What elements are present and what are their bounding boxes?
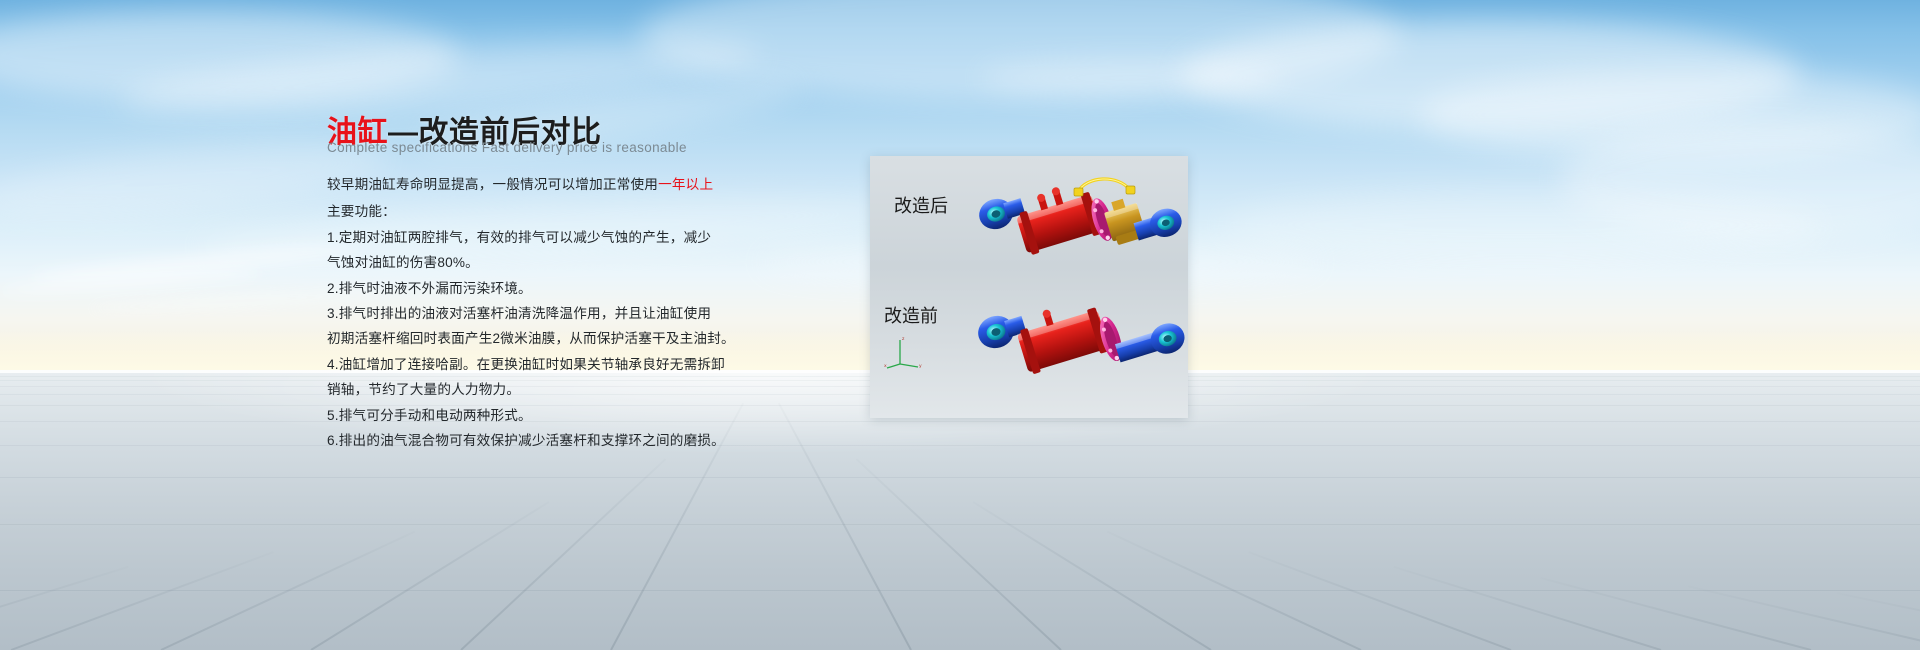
cylinder-assembly-before [966, 288, 1188, 406]
label-after-modification: 改造后 [894, 192, 948, 218]
cad-comparison-panel: 改造后 改造前 z x y [870, 156, 1188, 418]
page-subtitle: Complete specifications Fast delivery pr… [327, 140, 687, 155]
feature-line-highlight: 一年以上 [658, 177, 713, 192]
content-layer: 油缸—改造前后对比 Complete specifications Fast d… [0, 0, 1920, 650]
feature-line: 较早期油缸寿命明显提高，一般情况可以增加正常使用一年以上 [327, 172, 767, 197]
banner-root: 油缸—改造前后对比 Complete specifications Fast d… [0, 0, 1920, 650]
svg-text:z: z [902, 337, 905, 342]
feature-line-text: 销轴，节约了大量的人力物力。 [327, 382, 520, 397]
feature-line-text: 3.排气时排出的油液对活塞杆油清洗降温作用，并且让油缸使用 [327, 306, 711, 321]
label-before-modification: 改造前 [884, 302, 938, 328]
feature-line: 销轴，节约了大量的人力物力。 [327, 377, 767, 402]
feature-line: 1.定期对油缸两腔排气，有效的排气可以减少气蚀的产生，减少 [327, 225, 767, 250]
feature-line-text: 较早期油缸寿命明显提高，一般情况可以增加正常使用 [327, 177, 658, 192]
feature-line: 初期活塞杆缩回时表面产生2微米油膜，从而保护活塞干及主油封。 [327, 326, 767, 351]
feature-line-text: 6.排出的油气混合物可有效保护减少活塞杆和支撑环之间的磨损。 [327, 433, 725, 448]
feature-line: 3.排气时排出的油液对活塞杆油清洗降温作用，并且让油缸使用 [327, 301, 767, 326]
feature-line-text: 主要功能： [327, 204, 396, 219]
svg-text:y: y [919, 364, 922, 369]
feature-line-text: 1.定期对油缸两腔排气，有效的排气可以减少气蚀的产生，减少 [327, 230, 711, 245]
svg-text:x: x [884, 364, 887, 369]
feature-line-text: 初期活塞杆缩回时表面产生2微米油膜，从而保护活塞干及主油封。 [327, 331, 735, 346]
feature-line: 主要功能： [327, 199, 767, 224]
feature-list: 较早期油缸寿命明显提高，一般情况可以增加正常使用一年以上主要功能：1.定期对油缸… [327, 172, 767, 453]
feature-line-text: 2.排气时油液不外漏而污染环境。 [327, 281, 532, 296]
feature-line-text: 5.排气可分手动和电动两种形式。 [327, 408, 532, 423]
feature-line: 2.排气时油液不外漏而污染环境。 [327, 276, 767, 301]
cylinder-assembly-after [966, 170, 1188, 288]
feature-line: 6.排出的油气混合物可有效保护减少活塞杆和支撑环之间的磨损。 [327, 428, 767, 453]
feature-line: 5.排气可分手动和电动两种形式。 [327, 403, 767, 428]
feature-line: 气蚀对油缸的伤害80%。 [327, 250, 767, 275]
feature-line-text: 气蚀对油缸的伤害80%。 [327, 255, 479, 270]
axis-triad-icon: z x y [884, 334, 924, 370]
feature-line: 4.油缸增加了连接哈副。在更换油缸时如果关节轴承良好无需拆卸 [327, 352, 767, 377]
feature-line-text: 4.油缸增加了连接哈副。在更换油缸时如果关节轴承良好无需拆卸 [327, 357, 725, 372]
